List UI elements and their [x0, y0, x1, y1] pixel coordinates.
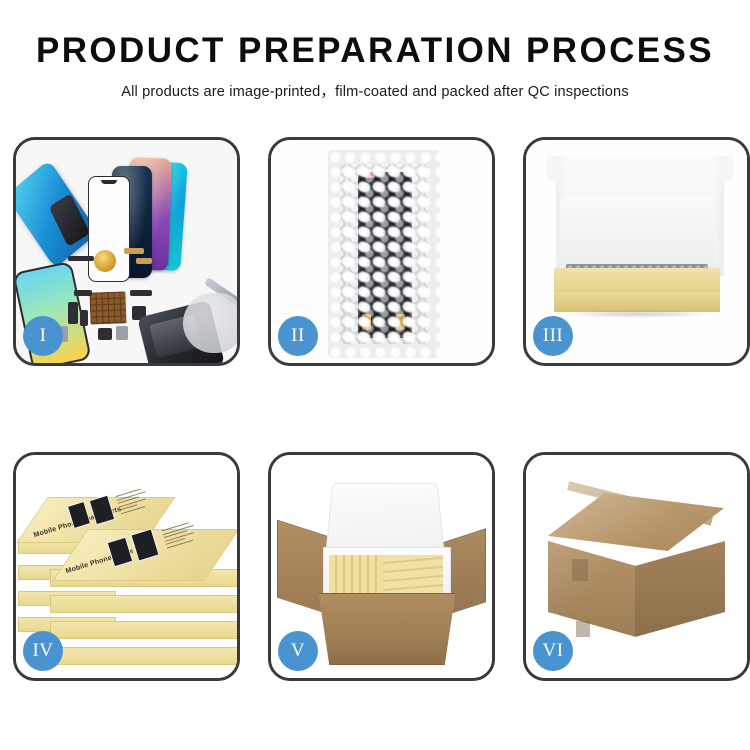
step-panel-4: Mobile Phone Spare Parts Mobile Phone Sp… — [13, 452, 240, 681]
carton-tab-graphic — [576, 621, 590, 637]
step-badge-6: VI — [533, 631, 573, 671]
foam-sheet-graphic — [560, 196, 714, 268]
step-panel-2: II — [268, 137, 495, 366]
step-badge-4: IV — [23, 631, 63, 671]
box-edge — [50, 595, 237, 613]
page-title: PRODUCT PREPARATION PROCESS — [0, 0, 750, 68]
step-badge-1: I — [23, 316, 63, 356]
small-part-graphic — [130, 290, 152, 296]
small-part-graphic — [74, 290, 92, 296]
bubble-wrap-bag-graphic — [328, 150, 440, 358]
box-edge — [50, 647, 237, 665]
step-panel-5: V — [268, 452, 495, 681]
yellow-boxes-graphic — [383, 555, 443, 595]
small-part-graphic — [136, 258, 152, 264]
kraft-tray-front-graphic — [554, 292, 720, 312]
step-badge-3: III — [533, 316, 573, 356]
speaker-coil-part-graphic — [94, 250, 116, 272]
small-part-graphic — [68, 256, 94, 261]
carton-body-graphic — [311, 593, 463, 665]
carton-tab-graphic — [572, 559, 588, 581]
bubble-texture — [328, 150, 440, 358]
page-header: PRODUCT PREPARATION PROCESS All products… — [0, 0, 750, 128]
step-badge-2: II — [278, 316, 318, 356]
foam-lid-graphic — [325, 483, 445, 556]
small-part-graphic — [68, 302, 78, 324]
hand-graphic — [183, 293, 237, 353]
tray-shadow — [558, 310, 716, 318]
box-edge — [50, 621, 237, 639]
small-part-graphic — [124, 248, 144, 254]
step-panel-1: I — [13, 137, 240, 366]
chip-array-part-graphic — [89, 291, 126, 324]
small-part-graphic — [116, 326, 128, 340]
small-part-graphic — [80, 310, 88, 326]
process-steps-grid: I II — [13, 137, 740, 737]
step-badge-5: V — [278, 631, 318, 671]
small-part-graphic — [98, 328, 112, 340]
page-subtitle: All products are image-printed，film-coat… — [0, 68, 750, 101]
step-panel-6: VI — [523, 452, 750, 681]
step-panel-3: III — [523, 137, 750, 366]
